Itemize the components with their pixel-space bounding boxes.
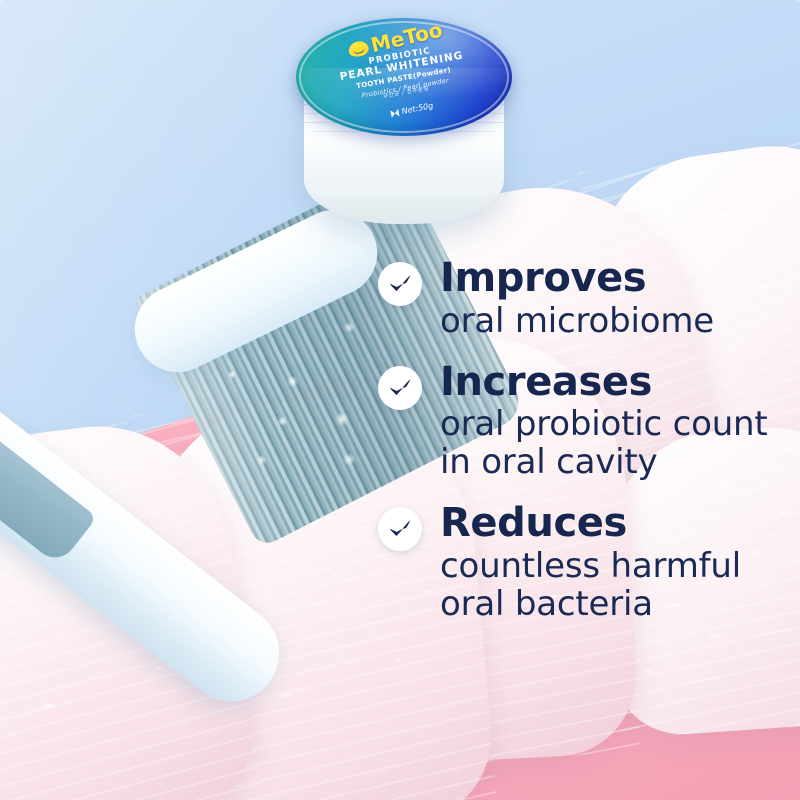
lid-label: MeToo PROBIOTIC PEARL WHITENING TOOTH PA…: [296, 18, 512, 136]
check-circle-icon: [378, 507, 422, 551]
net-weight-text: Net:50g: [400, 101, 433, 116]
advertisement-image: MeToo PROBIOTIC PEARL WHITENING TOOTH PA…: [0, 0, 800, 800]
product-jar: MeToo PROBIOTIC PEARL WHITENING TOOTH PA…: [296, 18, 512, 228]
benefit-title: Reduces: [440, 503, 798, 545]
benefit-item: Improves oral microbiome: [378, 258, 798, 340]
jar-lid: MeToo PROBIOTIC PEARL WHITENING TOOTH PA…: [296, 18, 512, 136]
certification-mark-icon: [390, 108, 399, 117]
benefit-title: Improves: [440, 258, 798, 300]
check-circle-icon: [378, 366, 422, 410]
check-circle-icon: [378, 262, 422, 306]
benefit-description: countless harmful oral bacteria: [440, 547, 798, 623]
net-weight-row: Net:50g: [390, 101, 434, 118]
benefit-description: oral probiotic count in oral cavity: [440, 405, 798, 481]
benefit-item: Increases oral probiotic count in oral c…: [378, 362, 798, 482]
benefit-item: Reduces countless harmful oral bacteria: [378, 503, 798, 623]
benefit-description: oral microbiome: [440, 302, 798, 340]
benefit-title: Increases: [440, 362, 798, 404]
smiling-tooth-bean-icon: [347, 39, 370, 58]
benefits-list: Improves oral microbiome Increases oral …: [378, 258, 798, 645]
